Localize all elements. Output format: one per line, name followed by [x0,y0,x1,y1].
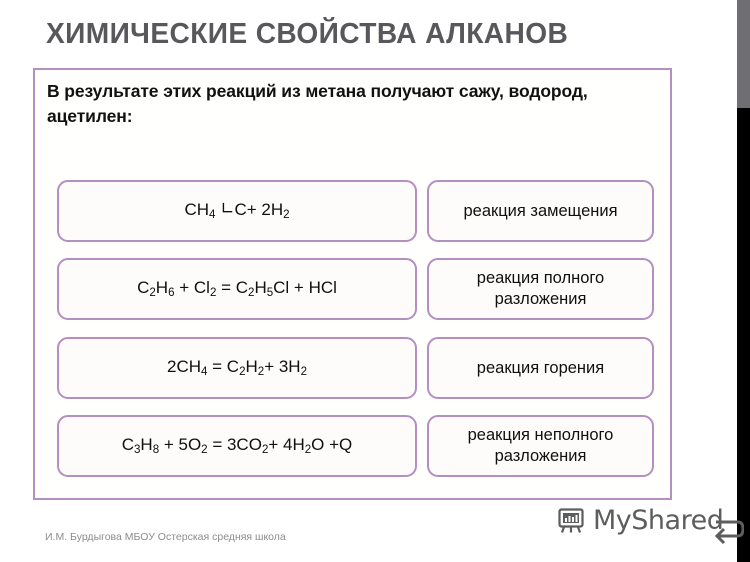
formula-text-2: C2H6 + Cl2 = C2H5Cl + HCl [137,278,337,299]
intro-paragraph: В результате этих реакций из метана полу… [47,79,657,129]
label-box-3: реакция горения [427,337,654,399]
formula-box-3: 2CH4 = C2H2+ 3H2 [57,337,417,399]
formula-text-1: CH4 ∟C+ 2H2 [184,200,289,221]
formula-text-4: C3H8 + 5O2 = 3CO2+ 4H2O +Q [122,435,353,456]
myshared-logo-text: MyShared [593,505,723,536]
presentation-board-icon [556,506,586,536]
reaction-row: CH4 ∟C+ 2H2 реакция замещения [35,180,674,242]
formula-text-3: 2CH4 = C2H2+ 3H2 [167,357,307,378]
formula-box-2: C2H6 + Cl2 = C2H5Cl + HCl [57,258,417,320]
label-box-1: реакция замещения [427,180,654,242]
myshared-logo[interactable]: MyShared [556,505,723,536]
label-box-4: реакция неполного разложения [427,415,654,477]
right-edge-black-band [737,108,750,562]
reaction-row: C2H6 + Cl2 = C2H5Cl + HCl реакция полног… [35,258,674,320]
reaction-row: C3H8 + 5O2 = 3CO2+ 4H2O +Q реакция непол… [35,415,674,477]
reaction-row: 2CH4 = C2H2+ 3H2 реакция горения [35,337,674,399]
content-frame: В результате этих реакций из метана полу… [33,68,672,500]
formula-box-4: C3H8 + 5O2 = 3CO2+ 4H2O +Q [57,415,417,477]
formula-box-1: CH4 ∟C+ 2H2 [57,180,417,242]
author-credit: И.М. Бурдыгова МБОУ Остерская средняя шк… [45,531,286,543]
page-title: ХИМИЧЕСКИЕ СВОЙСТВА АЛКАНОВ [46,18,568,51]
right-edge-gray-band [737,0,750,108]
back-arrow-icon[interactable] [712,512,744,550]
label-box-2: реакция полного разложения [427,258,654,320]
